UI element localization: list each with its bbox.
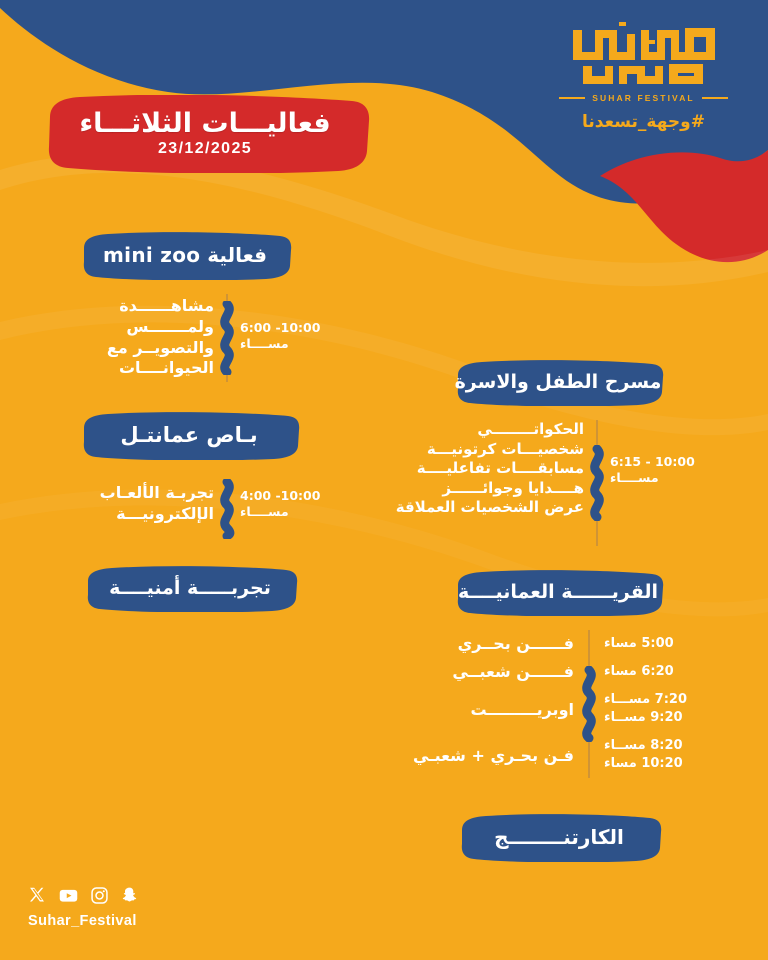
logo-latin-wordmark: SUHAR FESTIVAL bbox=[541, 93, 746, 103]
event-heading-label: تجربـــــة أمنيــــة bbox=[82, 566, 298, 612]
event-times-mini-zoo: 6:00 -10:00 مســــاء bbox=[240, 294, 318, 382]
social-handle-text: Suhar_Festival bbox=[28, 913, 139, 929]
event-heading-karting[interactable]: الكارتنــــــــج bbox=[456, 814, 662, 862]
event-heading-label: الكارتنــــــــج bbox=[456, 814, 662, 862]
event-heading-mini-zoo[interactable]: فعالية mini zoo bbox=[78, 232, 292, 280]
village-label-cell: اوبريـــــــــت bbox=[388, 686, 574, 732]
festival-logo: SUHAR FESTIVAL #وجهة_تسعدنا bbox=[541, 14, 746, 132]
youtube-icon[interactable] bbox=[58, 885, 79, 906]
x-icon[interactable] bbox=[28, 886, 47, 905]
village-time-cell: 8:20 مســاء 10:20 مساء bbox=[604, 732, 702, 778]
logo-latin-text: SUHAR FESTIVAL bbox=[592, 93, 694, 103]
social-icon-row bbox=[28, 884, 139, 906]
squiggle-icon bbox=[216, 479, 238, 539]
wave-divider bbox=[574, 630, 604, 778]
event-body-child-family-theater: 6:15 - 10:00 مســــاء الحكواتــــــــي ش… bbox=[390, 420, 702, 546]
logo-rule-left bbox=[702, 97, 728, 99]
festival-logo-mark bbox=[561, 14, 727, 88]
brand-hashtag: #وجهة_تسعدنا bbox=[541, 112, 746, 132]
village-labels-column: فــــــن بحــري فــــــن شعبــي اوبريـــ… bbox=[388, 630, 574, 778]
day-title-banner: فعاليـــات الثلاثـــاء 23/12/2025 bbox=[40, 95, 370, 173]
event-heading-security-experience[interactable]: تجربـــــة أمنيــــة bbox=[82, 566, 298, 612]
wave-divider bbox=[584, 420, 610, 546]
event-body-omani-village: 5:00 مساء 6:20 مساء 7:20 مســـاء 9:20 مس… bbox=[388, 630, 702, 778]
poster-canvas: SUHAR FESTIVAL #وجهة_تسعدنا فعاليـــات ا… bbox=[0, 0, 768, 960]
event-heading-label: مسرح الطفل والاسرة bbox=[452, 360, 664, 406]
event-body-omantel-bus: 4:00 -10:00 مســــاء تجربـة الألعـاب الإ… bbox=[62, 482, 318, 536]
village-label-cell: فــــــن بحــري bbox=[388, 630, 574, 656]
event-heading-label: بـاص عمانتـل bbox=[78, 412, 300, 460]
event-heading-child-family-theater[interactable]: مسرح الطفل والاسرة bbox=[452, 360, 664, 406]
social-footer: Suhar_Festival bbox=[28, 884, 139, 929]
village-time-cell: 6:20 مساء bbox=[604, 656, 702, 686]
event-heading-omani-village[interactable]: القريــــــة العمانيــــة bbox=[452, 570, 664, 616]
squiggle-icon bbox=[586, 445, 608, 521]
event-description-child-family-theater: الحكواتــــــــي شخصيـــات كرتونيـــة مس… bbox=[390, 420, 584, 546]
village-label-cell: فـن بحـري + شعبـي bbox=[388, 732, 574, 778]
event-heading-label: القريــــــة العمانيــــة bbox=[452, 570, 664, 616]
event-times-omantel-bus: 4:00 -10:00 مســــاء bbox=[240, 482, 318, 536]
village-label-cell: فــــــن شعبــي bbox=[388, 656, 574, 686]
wave-divider bbox=[214, 294, 240, 382]
snapchat-icon[interactable] bbox=[120, 886, 139, 905]
village-time-cell: 5:00 مساء bbox=[604, 630, 702, 656]
day-title-date: 23/12/2025 bbox=[158, 140, 252, 158]
village-time-cell: 7:20 مســـاء 9:20 مســاء bbox=[604, 686, 702, 732]
event-times-child-family-theater: 6:15 - 10:00 مســــاء bbox=[610, 420, 702, 546]
event-heading-label: فعالية mini zoo bbox=[78, 232, 292, 280]
squiggle-icon bbox=[216, 301, 238, 375]
day-title-text: فعاليـــات الثلاثـــاء bbox=[79, 110, 330, 138]
instagram-icon[interactable] bbox=[90, 886, 109, 905]
event-body-mini-zoo: 6:00 -10:00 مســــاء مشاهــــــدة ولمـــ… bbox=[62, 294, 318, 382]
logo-rule-right bbox=[559, 97, 585, 99]
squiggle-icon bbox=[578, 666, 600, 742]
wave-divider bbox=[214, 482, 240, 536]
event-heading-omantel-bus[interactable]: بـاص عمانتـل bbox=[78, 412, 300, 460]
event-description-omantel-bus: تجربـة الألعـاب الإلكترونيـــة bbox=[62, 482, 214, 536]
event-description-mini-zoo: مشاهــــــدة ولمـــــــس والتصويــر مع ا… bbox=[62, 294, 214, 382]
village-times-column: 5:00 مساء 6:20 مساء 7:20 مســـاء 9:20 مس… bbox=[604, 630, 702, 778]
